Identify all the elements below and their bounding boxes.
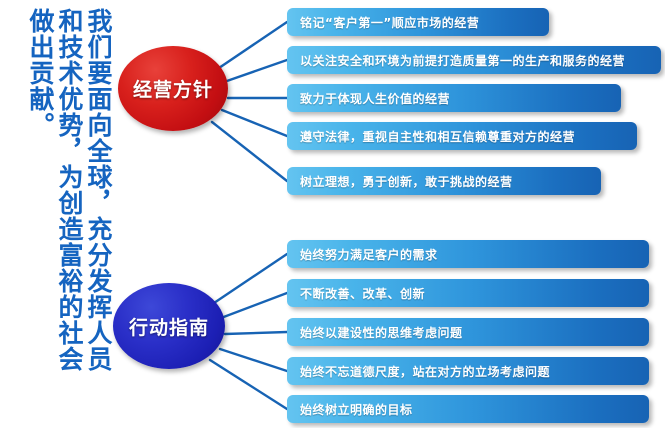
bar-guideline-5[interactable]: 始终树立明确的目标 <box>287 395 649 423</box>
diagram-canvas: 我们要面向全球，充分发挥人员 和技术优势，为创造富裕的社会 做出贡献。 经营方针… <box>0 0 665 428</box>
connector-line-bottom-5 <box>210 360 287 409</box>
bar-label: 始终以建设性的思维考虑问题 <box>287 324 463 341</box>
bar-label: 致力于体现人生价值的经营 <box>287 90 450 107</box>
slogan-column-2: 和技术优势，为创造富裕的社会 <box>56 8 83 372</box>
connector-line-bottom-2 <box>221 293 287 318</box>
connector-line-top-5 <box>212 122 287 181</box>
bar-label: 铭记“客户第一”顺应市场的经营 <box>287 14 479 31</box>
node-label: 行动指南 <box>129 313 209 340</box>
bar-label: 不断改善、改革、创新 <box>287 285 425 302</box>
bar-policy-2[interactable]: 以关注安全和环境为前提打造质量第一的生产和服务的经营 <box>287 46 661 74</box>
bar-guideline-3[interactable]: 始终以建设性的思维考虑问题 <box>287 318 649 346</box>
connector-line-bottom-3 <box>225 332 287 334</box>
bar-guideline-2[interactable]: 不断改善、改革、创新 <box>287 279 649 307</box>
bar-label: 始终不忘道德尺度，站在对方的立场考虑问题 <box>287 363 550 380</box>
connector-line-top-4 <box>222 110 287 136</box>
connector-line-top-2 <box>224 60 287 82</box>
connector-line-bottom-1 <box>211 254 287 305</box>
bar-policy-4[interactable]: 遵守法律，重视自主性和相互信赖尊重对方的经营 <box>287 122 637 150</box>
node-action-guideline[interactable]: 行动指南 <box>113 283 225 369</box>
bar-label: 始终树立明确的目标 <box>287 401 413 418</box>
bar-policy-1[interactable]: 铭记“客户第一”顺应市场的经营 <box>287 8 549 36</box>
bar-policy-3[interactable]: 致力于体现人生价值的经营 <box>287 84 621 112</box>
slogan-column-3: 做出贡献。 <box>27 8 54 138</box>
connector-line-bottom-4 <box>220 349 287 371</box>
node-label: 经营方针 <box>133 75 213 102</box>
slogan-column-1: 我们要面向全球，充分发挥人员 <box>85 8 112 372</box>
bar-guideline-4[interactable]: 始终不忘道德尺度，站在对方的立场考虑问题 <box>287 357 649 385</box>
bar-label: 始终努力满足客户的需求 <box>287 246 438 263</box>
connector-line-top-1 <box>216 22 287 70</box>
bar-label: 树立理想，勇于创新，敢于挑战的经营 <box>287 173 513 190</box>
bar-label: 遵守法律，重视自主性和相互信赖尊重对方的经营 <box>287 128 575 145</box>
node-management-policy[interactable]: 经营方针 <box>118 46 228 131</box>
bar-guideline-1[interactable]: 始终努力满足客户的需求 <box>287 240 649 268</box>
bar-label: 以关注安全和环境为前提打造质量第一的生产和服务的经营 <box>287 52 625 69</box>
bar-policy-5[interactable]: 树立理想，勇于创新，敢于挑战的经营 <box>287 167 601 195</box>
slogan-block: 我们要面向全球，充分发挥人员 和技术优势，为创造富裕的社会 做出贡献。 <box>0 0 112 428</box>
